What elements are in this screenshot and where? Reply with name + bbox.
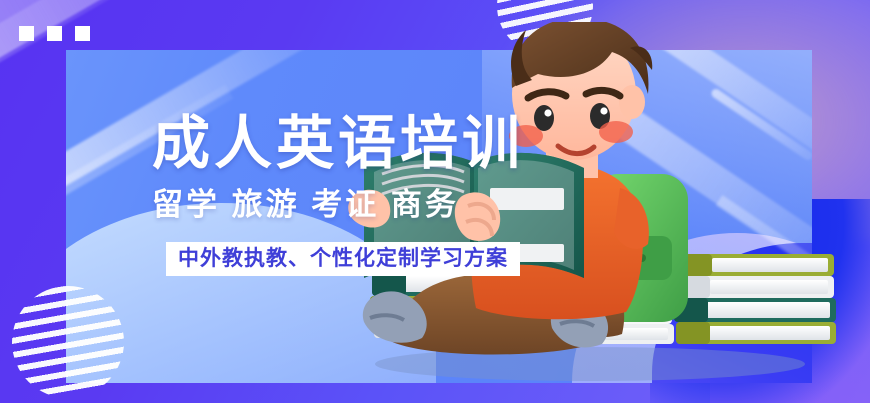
window-dots: [19, 26, 90, 41]
subtitle: 留学 旅游 考证 商务: [152, 186, 459, 224]
book-stack-right: [674, 254, 836, 344]
page-title: 成人英语培训: [152, 112, 524, 176]
tagline-text: 中外教执教、个性化定制学习方案: [178, 247, 508, 271]
window-dot-2: [47, 26, 62, 41]
striped-sphere-large-icon: [12, 286, 124, 398]
window-dot-3: [75, 26, 90, 41]
window-dot-1: [19, 26, 34, 41]
tagline-banner: 中外教执教、个性化定制学习方案: [166, 242, 520, 276]
banner-root: 成人英语培训 留学 旅游 考证 商务 中外教执教、个性化定制学习方案: [0, 0, 870, 403]
